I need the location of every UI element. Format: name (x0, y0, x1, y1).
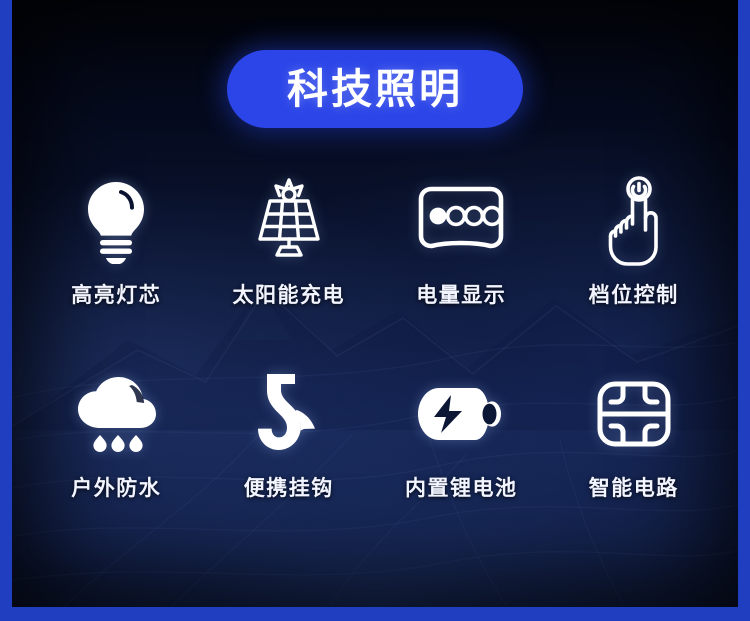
feature-label: 户外防水 (71, 478, 161, 499)
rain-cloud-icon (70, 368, 162, 460)
feature-label: 内置锂电池 (405, 478, 518, 499)
page-title: 科技照明 (287, 69, 463, 110)
feature-grid: 高亮灯芯 (30, 175, 720, 499)
feature-item-lithium-battery: 内置锂电池 (375, 368, 548, 499)
hand-press-power-button-icon (594, 175, 674, 267)
feature-item-lightbulb: 高亮灯芯 (30, 175, 203, 306)
feature-item-solar-panel: 太阳能充电 (203, 175, 376, 306)
feature-label: 高亮灯芯 (71, 285, 161, 306)
feature-item-mode-control: 档位控制 (548, 175, 721, 306)
chip-circuit-icon (596, 368, 672, 460)
feature-label: 便携挂钩 (244, 478, 334, 499)
feature-item-hook: 便携挂钩 (203, 368, 376, 499)
feature-item-smart-circuit: 智能电路 (548, 368, 721, 499)
feature-label: 电量显示 (416, 285, 506, 306)
battery-level-indicator-icon (409, 175, 513, 267)
lightbulb-icon (79, 175, 153, 267)
feature-item-waterproof: 户外防水 (30, 368, 203, 499)
battery-bolt-icon (413, 368, 509, 460)
feature-item-battery-level: 电量显示 (375, 175, 548, 306)
hook-icon (257, 368, 321, 460)
solar-panel-icon (246, 175, 332, 267)
poster-stage: 科技照明 高亮灯芯 (12, 0, 738, 607)
title-pill: 科技照明 (227, 50, 523, 128)
feature-label: 档位控制 (589, 285, 679, 306)
feature-label: 智能电路 (589, 478, 679, 499)
feature-label: 太阳能充电 (233, 285, 346, 306)
title-banner: 科技照明 (12, 50, 738, 128)
product-feature-poster: 科技照明 高亮灯芯 (0, 0, 750, 621)
